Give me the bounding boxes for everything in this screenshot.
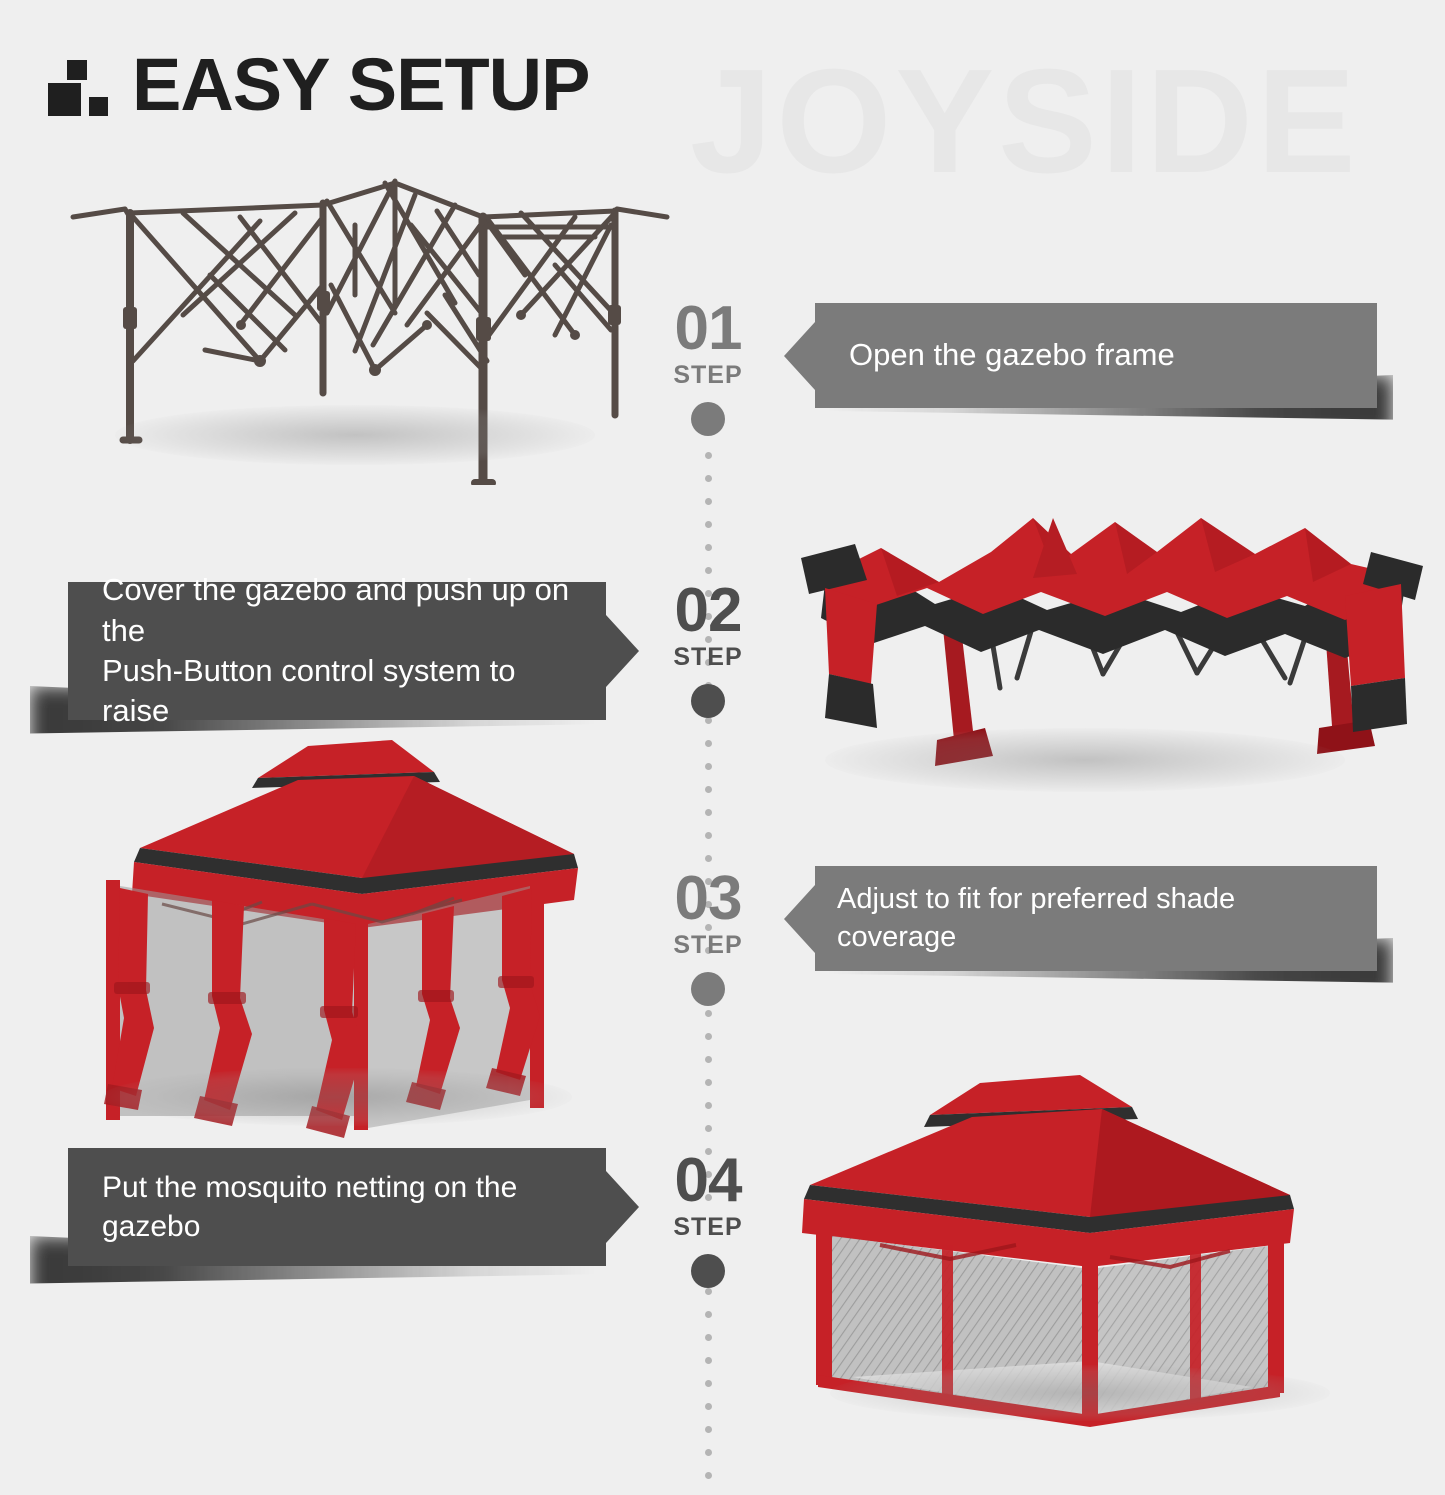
step-bullet-dot xyxy=(691,684,725,718)
photo-ground-shadow xyxy=(825,728,1345,792)
callout-text: Adjust to fit for preferred shade covera… xyxy=(815,881,1377,956)
callout-text-line-1: Cover the gazebo and push up on the xyxy=(102,570,572,651)
callout-box: Adjust to fit for preferred shade covera… xyxy=(815,866,1377,971)
photo-ground-shadow xyxy=(115,405,595,465)
photo-ground-shadow xyxy=(102,1068,572,1126)
side-drape-right xyxy=(1345,584,1405,686)
page-header: EASY SETUP xyxy=(48,52,589,117)
blocks-icon xyxy=(48,55,110,117)
step-label: STEP xyxy=(633,1213,783,1242)
timeline-dots-4 xyxy=(708,1288,710,1495)
step-bullet-dot xyxy=(691,1254,725,1288)
callout-step-04: Put the mosquito netting on the gazebo xyxy=(68,1148,606,1266)
step-bullet-dot xyxy=(691,972,725,1006)
page-title: EASY SETUP xyxy=(132,52,589,117)
callout-step-02: Cover the gazebo and push up on the Push… xyxy=(68,582,606,720)
brand-watermark: JOYSIDE xyxy=(690,48,1360,196)
gazebo-mosquito-netting-photo xyxy=(790,1045,1420,1435)
step-label: STEP xyxy=(633,643,783,672)
callout-text: Put the mosquito netting on the gazebo xyxy=(68,1168,606,1246)
step-number: 02 xyxy=(633,582,783,641)
gazebo-frame-open-photo xyxy=(55,165,685,485)
photo-ground-shadow xyxy=(830,1365,1330,1421)
callout-text-line-2: Push-Button control system to raise xyxy=(102,651,572,732)
callout-step-03: Adjust to fit for preferred shade covera… xyxy=(815,866,1377,971)
gazebo-erected-curtains-photo xyxy=(62,728,672,1148)
callout-text: Cover the gazebo and push up on the Push… xyxy=(68,570,606,731)
step-marker-02: 02 STEP xyxy=(633,582,783,718)
callout-step-01: Open the gazebo frame xyxy=(815,303,1377,408)
step-bullet-dot xyxy=(691,402,725,436)
callout-box: Put the mosquito netting on the gazebo xyxy=(68,1148,606,1266)
side-drape-left xyxy=(825,588,877,684)
callout-box: Cover the gazebo and push up on the Push… xyxy=(68,582,606,720)
step-marker-04: 04 STEP xyxy=(633,1152,783,1288)
infographic-stage: JOYSIDE EASY SETUP 01 STEP Open the gaze… xyxy=(0,0,1445,1445)
roof-vent-top xyxy=(258,740,434,778)
step-number: 04 xyxy=(633,1152,783,1211)
gazebo-canopy-draped-photo xyxy=(785,478,1425,818)
callout-text: Open the gazebo frame xyxy=(815,335,1209,375)
callout-box: Open the gazebo frame xyxy=(815,303,1377,408)
